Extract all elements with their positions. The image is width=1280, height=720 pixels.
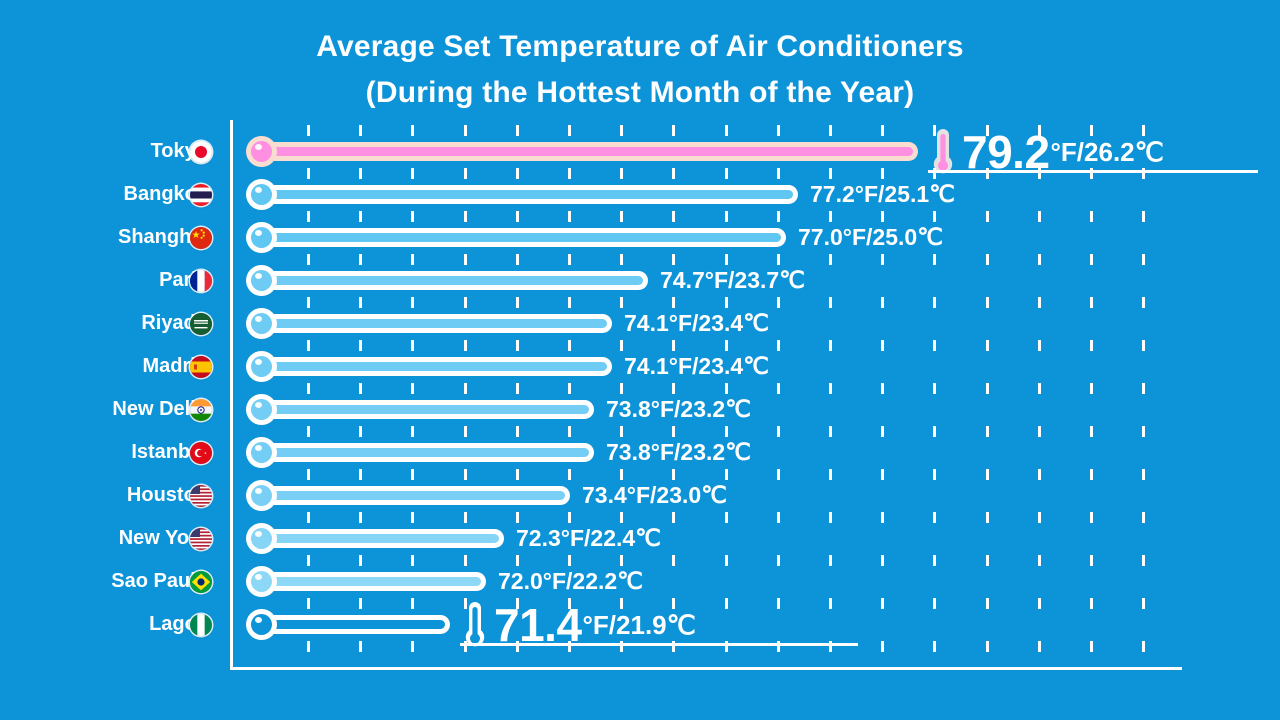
bar-bulb-gloss (255, 144, 262, 150)
axis-tick (1038, 168, 1041, 179)
chart-row: Istanbul73.8°F/23.2℃ (0, 431, 1280, 474)
axis-tick (829, 297, 832, 308)
axis-tick (464, 469, 467, 480)
bar-tube-fill (261, 319, 607, 328)
value-unit: °F/21.9℃ (583, 612, 696, 638)
axis-tick (359, 426, 362, 437)
axis-tick (464, 340, 467, 351)
bar-tube-fill (261, 362, 607, 371)
value-underline (460, 643, 858, 646)
axis-tick (620, 340, 623, 351)
chart-row: Paris74.7°F/23.7℃ (0, 259, 1280, 302)
chart-row: Madrid74.1°F/23.4℃ (0, 345, 1280, 388)
bar-bulb-casing (246, 179, 277, 210)
axis-tick (881, 512, 884, 523)
bar-tube-fill (261, 233, 781, 242)
axis-tick (672, 512, 675, 523)
bar-bulb-fill (251, 141, 272, 162)
bar-bulb-fill (251, 614, 272, 635)
axis-tick (307, 641, 310, 652)
axis-tick (986, 168, 989, 179)
axis-tick (411, 383, 414, 394)
axis-tick (933, 211, 936, 222)
axis-tick (986, 598, 989, 609)
chart-row: Tokyo79.2°F/26.2℃ (0, 130, 1280, 173)
axis-tick (516, 512, 519, 523)
axis-tick (986, 340, 989, 351)
axis-tick (672, 426, 675, 437)
axis-tick (1038, 512, 1041, 523)
thermometer-bar (246, 308, 612, 339)
axis-tick (986, 469, 989, 480)
axis-tick (620, 469, 623, 480)
axis-tick (1038, 383, 1041, 394)
axis-tick (359, 125, 362, 136)
flag-japan-icon (190, 141, 212, 163)
bar-bulb-casing (246, 609, 277, 640)
chart-row: New Delhi73.8°F/23.2℃ (0, 388, 1280, 431)
bar-bulb-gloss (255, 445, 262, 451)
chart-title: Average Set Temperature of Air Condition… (0, 24, 1280, 116)
axis-tick (359, 254, 362, 265)
thermometer-bar (246, 351, 612, 382)
axis-tick (307, 426, 310, 437)
axis-tick (986, 555, 989, 566)
bar-bulb-gloss (255, 230, 262, 236)
axis-tick (725, 254, 728, 265)
flag-saudi-arabia-icon (190, 313, 212, 335)
axis-tick (777, 297, 780, 308)
axis-tick (568, 555, 571, 566)
axis-tick (411, 469, 414, 480)
axis-tick (725, 211, 728, 222)
axis-tick (307, 168, 310, 179)
axis-tick (881, 469, 884, 480)
axis-tick (725, 426, 728, 437)
axis-tick (568, 469, 571, 480)
bar-bulb-casing (246, 480, 277, 511)
axis-tick (1038, 297, 1041, 308)
axis-tick (881, 555, 884, 566)
axis-tick (359, 469, 362, 480)
axis-tick (1142, 426, 1145, 437)
axis-tick (307, 340, 310, 351)
axis-tick (1090, 512, 1093, 523)
thermometer-bar (246, 394, 594, 425)
axis-tick (516, 297, 519, 308)
bar-bulb-casing (246, 308, 277, 339)
axis-tick (725, 641, 728, 652)
axis-tick (725, 512, 728, 523)
value-label: 74.1°F/23.4℃ (624, 345, 769, 388)
axis-tick (516, 211, 519, 222)
flag-brazil-icon (190, 571, 212, 593)
axis-tick (1142, 555, 1145, 566)
axis-tick (986, 254, 989, 265)
bar-bulb-gloss (255, 402, 262, 408)
axis-tick (933, 598, 936, 609)
axis-tick (672, 641, 675, 652)
flag-spain-icon (190, 356, 212, 378)
axis-tick (620, 598, 623, 609)
value-unit: °F/26.2℃ (1051, 139, 1164, 165)
axis-tick (620, 297, 623, 308)
axis-tick (568, 254, 571, 265)
axis-tick (307, 211, 310, 222)
axis-tick (933, 426, 936, 437)
axis-tick (1090, 383, 1093, 394)
axis-tick (1090, 297, 1093, 308)
bar-bulb-fill (251, 485, 272, 506)
axis-tick (725, 125, 728, 136)
bar-bulb-fill (251, 313, 272, 334)
bar-bulb-gloss (255, 187, 262, 193)
axis-tick (777, 254, 780, 265)
axis-tick (881, 426, 884, 437)
axis-tick (1090, 598, 1093, 609)
axis-tick (411, 426, 414, 437)
axis-tick (672, 125, 675, 136)
axis-tick (464, 641, 467, 652)
axis-tick (464, 383, 467, 394)
flag-india-icon (190, 399, 212, 421)
axis-tick (464, 297, 467, 308)
value-label: 74.1°F/23.4℃ (624, 302, 769, 345)
axis-tick (1038, 254, 1041, 265)
axis-tick (359, 211, 362, 222)
axis-tick (516, 168, 519, 179)
axis-tick (986, 426, 989, 437)
axis-tick (620, 168, 623, 179)
flag-united-states-icon (190, 528, 212, 550)
thermometer-bar (246, 566, 486, 597)
axis-tick (359, 598, 362, 609)
axis-tick (933, 555, 936, 566)
axis-tick (1090, 340, 1093, 351)
axis-tick (777, 426, 780, 437)
axis-tick (1038, 555, 1041, 566)
chart-row: Shanghai77.0°F/25.0℃ (0, 216, 1280, 259)
axis-tick (620, 426, 623, 437)
bar-tube-fill (261, 448, 589, 457)
axis-tick (620, 512, 623, 523)
axis-tick (933, 254, 936, 265)
chart-row: Riyadh74.1°F/23.4℃ (0, 302, 1280, 345)
axis-tick (568, 340, 571, 351)
bar-bulb-fill (251, 399, 272, 420)
axis-tick (672, 469, 675, 480)
axis-tick (620, 254, 623, 265)
axis-tick (411, 641, 414, 652)
value-label: 72.3°F/22.4℃ (516, 517, 661, 560)
axis-tick (672, 555, 675, 566)
axis-tick (777, 469, 780, 480)
axis-tick (359, 512, 362, 523)
thermometer-bar (246, 523, 504, 554)
axis-tick (568, 383, 571, 394)
thermometer-bar (246, 179, 798, 210)
chart-title-line1: Average Set Temperature of Air Condition… (316, 30, 964, 63)
axis-tick (568, 125, 571, 136)
axis-tick (1090, 125, 1093, 136)
axis-tick (986, 512, 989, 523)
thermometer-bar (246, 437, 594, 468)
bar-bulb-gloss (255, 359, 262, 365)
axis-tick (411, 125, 414, 136)
axis-tick (933, 469, 936, 480)
axis-tick (672, 254, 675, 265)
axis-tick (1142, 297, 1145, 308)
axis-tick (986, 211, 989, 222)
axis-tick (777, 211, 780, 222)
axis-tick (829, 211, 832, 222)
axis-tick (777, 340, 780, 351)
axis-tick (1038, 340, 1041, 351)
axis-tick (464, 168, 467, 179)
bar-tube-fill (261, 620, 445, 629)
value-label: 74.7°F/23.7℃ (660, 259, 805, 302)
bar-bulb-casing (246, 394, 277, 425)
axis-tick (1142, 254, 1145, 265)
chart-row: Bangkok77.2°F/25.1℃ (0, 173, 1280, 216)
axis-tick (464, 555, 467, 566)
axis-tick (307, 598, 310, 609)
value-number: 79.2 (962, 129, 1050, 175)
axis-tick (1038, 125, 1041, 136)
axis-tick (464, 125, 467, 136)
axis-tick (881, 340, 884, 351)
axis-tick (725, 383, 728, 394)
axis-tick (1090, 211, 1093, 222)
axis-tick (881, 641, 884, 652)
axis-tick (777, 598, 780, 609)
axis-tick (1038, 641, 1041, 652)
axis-tick (829, 125, 832, 136)
axis-tick (986, 125, 989, 136)
bar-bulb-casing (246, 265, 277, 296)
bar-bulb-gloss (255, 617, 262, 623)
axis-tick (829, 340, 832, 351)
axis-tick (464, 426, 467, 437)
axis-tick (411, 211, 414, 222)
flag-united-states-icon (190, 485, 212, 507)
axis-tick (568, 211, 571, 222)
axis-tick (568, 512, 571, 523)
bar-bulb-gloss (255, 316, 262, 322)
axis-tick (1090, 426, 1093, 437)
bar-bulb-casing (246, 523, 277, 554)
axis-tick (516, 469, 519, 480)
axis-tick (568, 641, 571, 652)
axis-tick (464, 211, 467, 222)
flag-turkey-icon (190, 442, 212, 464)
axis-tick (464, 598, 467, 609)
axis-tick (672, 211, 675, 222)
bar-bulb-casing (246, 566, 277, 597)
bar-bulb-fill (251, 184, 272, 205)
axis-tick (725, 168, 728, 179)
axis-tick (307, 125, 310, 136)
axis-tick (725, 598, 728, 609)
axis-tick (620, 125, 623, 136)
axis-tick (725, 297, 728, 308)
bar-bulb-fill (251, 571, 272, 592)
flag-thailand-icon (190, 184, 212, 206)
bar-bulb-fill (251, 270, 272, 291)
axis-tick (1090, 641, 1093, 652)
axis-tick (1142, 641, 1145, 652)
axis-tick (1090, 469, 1093, 480)
axis-tick (568, 168, 571, 179)
axis-tick (933, 641, 936, 652)
value-label: 77.0°F/25.0℃ (798, 216, 943, 259)
axis-tick (829, 469, 832, 480)
axis-tick (1038, 469, 1041, 480)
axis-tick (881, 211, 884, 222)
axis-tick (829, 555, 832, 566)
axis-tick (1142, 512, 1145, 523)
bar-bulb-gloss (255, 488, 262, 494)
axis-tick (881, 125, 884, 136)
chart-row: Lagos71.4°F/21.9℃ (0, 603, 1280, 646)
bar-bulb-casing (246, 437, 277, 468)
axis-tick (672, 340, 675, 351)
axis-tick (881, 254, 884, 265)
axis-tick (411, 555, 414, 566)
axis-tick (1090, 168, 1093, 179)
axis-tick (881, 598, 884, 609)
bar-bulb-fill (251, 356, 272, 377)
axis-tick (620, 555, 623, 566)
axis-tick (777, 641, 780, 652)
axis-tick (881, 168, 884, 179)
axis-tick (516, 598, 519, 609)
axis-tick (516, 125, 519, 136)
axis-tick (411, 512, 414, 523)
axis-tick (986, 297, 989, 308)
bar-tube-fill (261, 190, 793, 199)
axis-tick (1142, 168, 1145, 179)
flag-nigeria-icon (190, 614, 212, 636)
flag-france-icon (190, 270, 212, 292)
axis-tick (933, 512, 936, 523)
axis-tick (1142, 598, 1145, 609)
axis-tick (411, 340, 414, 351)
axis-tick (829, 641, 832, 652)
axis-tick (986, 383, 989, 394)
axis-tick (1090, 254, 1093, 265)
axis-tick (1038, 598, 1041, 609)
axis-tick (307, 254, 310, 265)
axis-tick (1142, 125, 1145, 136)
axis-tick (725, 469, 728, 480)
axis-tick (1142, 383, 1145, 394)
axis-tick (1090, 555, 1093, 566)
axis-tick (620, 641, 623, 652)
axis-tick (359, 340, 362, 351)
axis-tick (516, 340, 519, 351)
axis-tick (516, 254, 519, 265)
axis-tick (829, 254, 832, 265)
axis-tick (411, 254, 414, 265)
axis-tick (829, 512, 832, 523)
axis-tick (933, 340, 936, 351)
axis-tick (933, 125, 936, 136)
axis-tick (568, 598, 571, 609)
bar-bulb-gloss (255, 531, 262, 537)
bar-bulb-casing (246, 222, 277, 253)
axis-tick (777, 512, 780, 523)
bar-tube-fill (261, 276, 643, 285)
axis-tick (777, 555, 780, 566)
chart-row: New York72.3°F/22.4℃ (0, 517, 1280, 560)
axis-tick (933, 168, 936, 179)
chart-canvas: Average Set Temperature of Air Condition… (0, 0, 1280, 720)
axis-tick (777, 383, 780, 394)
axis-tick (829, 383, 832, 394)
axis-tick (933, 297, 936, 308)
value-label: 73.8°F/23.2℃ (606, 388, 751, 431)
axis-tick (307, 297, 310, 308)
axis-tick (464, 512, 467, 523)
bar-bulb-fill (251, 528, 272, 549)
axis-tick (307, 469, 310, 480)
bar-tube-fill (261, 147, 913, 156)
axis-tick (672, 598, 675, 609)
axis-tick (620, 211, 623, 222)
axis-tick (359, 168, 362, 179)
axis-tick (1038, 211, 1041, 222)
thermometer-bar (246, 265, 648, 296)
axis-tick (725, 555, 728, 566)
thermometer-bar (246, 480, 570, 511)
axis-tick (411, 598, 414, 609)
axis-tick (1142, 469, 1145, 480)
bar-bulb-casing (246, 351, 277, 382)
bar-bulb-fill (251, 227, 272, 248)
axis-tick (777, 168, 780, 179)
axis-tick (777, 125, 780, 136)
axis-tick (672, 297, 675, 308)
bar-bulb-gloss (255, 273, 262, 279)
chart-row: Houston73.4°F/23.0℃ (0, 474, 1280, 517)
thermometer-bar (246, 222, 786, 253)
axis-tick (933, 383, 936, 394)
axis-tick (516, 426, 519, 437)
axis-tick (568, 426, 571, 437)
axis-tick (829, 598, 832, 609)
axis-tick (672, 168, 675, 179)
axis-tick (829, 168, 832, 179)
axis-tick (464, 254, 467, 265)
axis-tick (516, 641, 519, 652)
axis-tick (516, 555, 519, 566)
axis-tick (620, 383, 623, 394)
axis-tick (359, 297, 362, 308)
bar-bulb-gloss (255, 574, 262, 580)
axis-tick (986, 641, 989, 652)
axis-tick (516, 383, 519, 394)
bar-tube-fill (261, 405, 589, 414)
axis-tick (829, 426, 832, 437)
axis-tick (881, 297, 884, 308)
value-label: 73.8°F/23.2℃ (606, 431, 751, 474)
axis-tick (881, 383, 884, 394)
bar-bulb-casing (246, 136, 277, 167)
bar-tube-fill (261, 534, 499, 543)
axis-tick (411, 297, 414, 308)
axis-tick (359, 383, 362, 394)
